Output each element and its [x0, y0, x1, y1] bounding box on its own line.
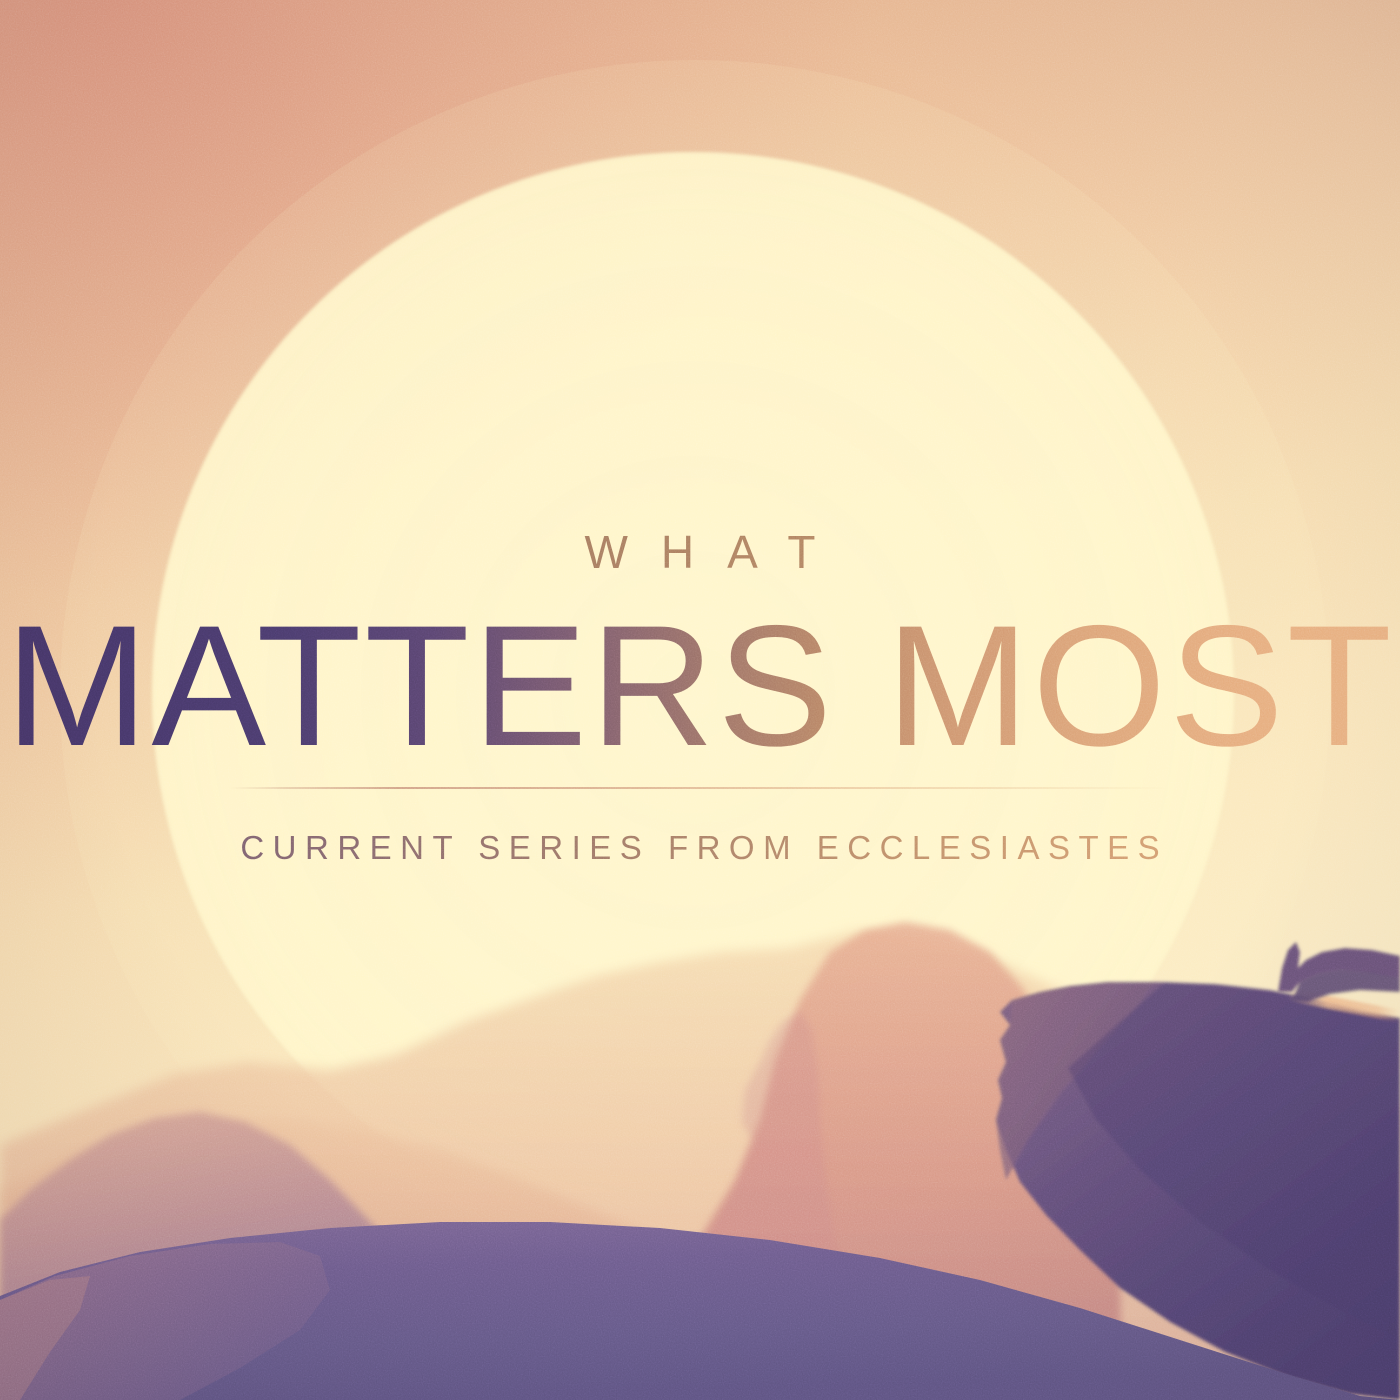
landscape — [0, 0, 1400, 1400]
album-artwork: WHAT MATTERS MOST CURRENT SERIES FROM EC… — [0, 0, 1400, 1400]
tree-silhouette — [1278, 942, 1400, 1002]
